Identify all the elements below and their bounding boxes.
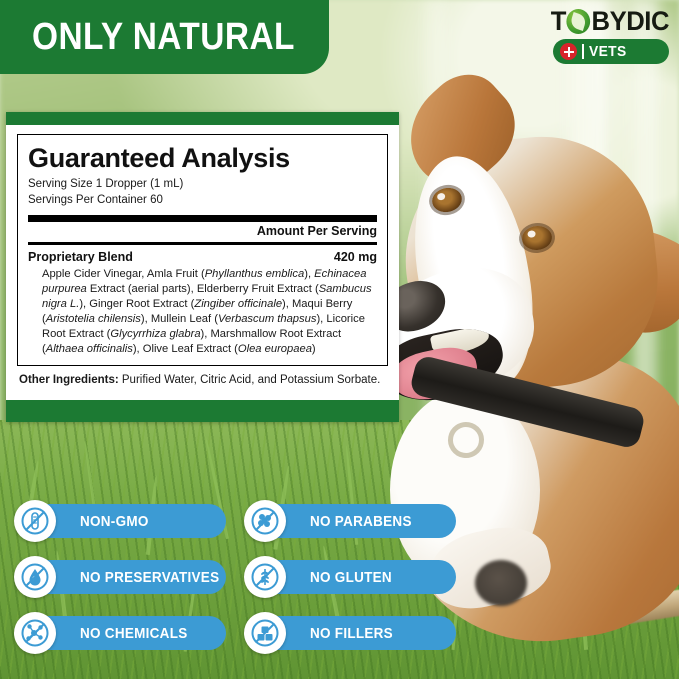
product-infographic: ONLY NATURAL T BYDIC VETS Guaranteed Ana… [0, 0, 679, 679]
vets-badge-label: VETS [589, 43, 627, 60]
badge-pill: NO PARABENS [266, 504, 456, 538]
panel-title: Guaranteed Analysis [28, 144, 377, 172]
brand-logo[interactable]: T BYDIC VETS [497, 8, 669, 64]
badge-label: NO CHEMICALS [80, 625, 187, 642]
servings-per-container-line: Servings Per Container 60 [28, 193, 377, 209]
badge-no-gluten[interactable]: NO GLUTEN [244, 556, 456, 598]
badge-divider [582, 44, 584, 59]
badge-no-fillers[interactable]: NO FILLERS [244, 612, 456, 654]
other-ingredients-row: Other Ingredients: Purified Water, Citri… [17, 366, 388, 389]
badge-label: NO PARABENS [310, 513, 412, 530]
medical-cross-icon [560, 43, 577, 60]
no-fillers-cubes-icon [244, 612, 286, 654]
other-ingredients-value: Purified Water, Citric Acid, and Potassi… [122, 374, 380, 386]
badge-pill: NO FILLERS [266, 616, 456, 650]
panel-body: Guaranteed Analysis Serving Size 1 Dropp… [6, 125, 399, 400]
blend-amount: 420 mg [334, 250, 377, 264]
badge-no-preservatives[interactable]: NO PRESERVATIVES [14, 556, 226, 598]
no-gluten-wheat-icon [244, 556, 286, 598]
badge-label: NO PRESERVATIVES [80, 569, 219, 586]
banner-title: ONLY NATURAL [32, 16, 295, 59]
ingredient-list: Apple Cider Vinegar, Amla Fruit (Phyllan… [28, 265, 377, 356]
badge-pill: NO PRESERVATIVES [36, 560, 226, 594]
badge-row: NO PRESERVATIVES NO GLUTEN [14, 556, 484, 598]
benefit-badges: NON-GMO NO PARABENS [14, 500, 484, 668]
no-parabens-molecule-icon [244, 500, 286, 542]
amount-per-serving-header: Amount Per Serving [28, 222, 377, 240]
only-natural-banner: ONLY NATURAL [0, 0, 329, 74]
brand-wordmark: T BYDIC [506, 8, 669, 35]
badge-non-gmo[interactable]: NON-GMO [14, 500, 226, 542]
leaf-circle-icon [567, 9, 591, 34]
blend-name: Proprietary Blend [28, 250, 133, 264]
brand-text-first: T [551, 8, 566, 35]
panel-bottom-stripe [6, 400, 399, 422]
no-preservatives-droplet-icon [14, 556, 56, 598]
badge-row: NO CHEMICALS [14, 612, 484, 654]
badge-pill: NO CHEMICALS [36, 616, 226, 650]
badge-label: NO GLUTEN [310, 569, 392, 586]
badge-no-chemicals[interactable]: NO CHEMICALS [14, 612, 226, 654]
guaranteed-analysis-panel: Guaranteed Analysis Serving Size 1 Dropp… [6, 112, 399, 422]
vets-badge: VETS [553, 39, 669, 64]
badge-label: NO FILLERS [310, 625, 393, 642]
panel-top-stripe [6, 112, 399, 125]
serving-size-line: Serving Size 1 Dropper (1 mL) [28, 177, 377, 193]
no-chemicals-molecule-icon [14, 612, 56, 654]
facts-medium-rule [28, 242, 377, 245]
badge-pill: NO GLUTEN [266, 560, 456, 594]
badge-no-parabens[interactable]: NO PARABENS [244, 500, 456, 542]
badge-pill: NON-GMO [36, 504, 226, 538]
proprietary-blend-row: Proprietary Blend 420 mg [28, 247, 377, 265]
no-gmo-test-tube-icon [14, 500, 56, 542]
badge-label: NON-GMO [80, 513, 149, 530]
supplement-facts-box: Guaranteed Analysis Serving Size 1 Dropp… [17, 134, 388, 366]
facts-thick-rule [28, 215, 377, 222]
badge-row: NON-GMO NO PARABENS [14, 500, 484, 542]
other-ingredients-label: Other Ingredients: [19, 374, 119, 386]
brand-text-rest: BYDIC [592, 8, 669, 35]
